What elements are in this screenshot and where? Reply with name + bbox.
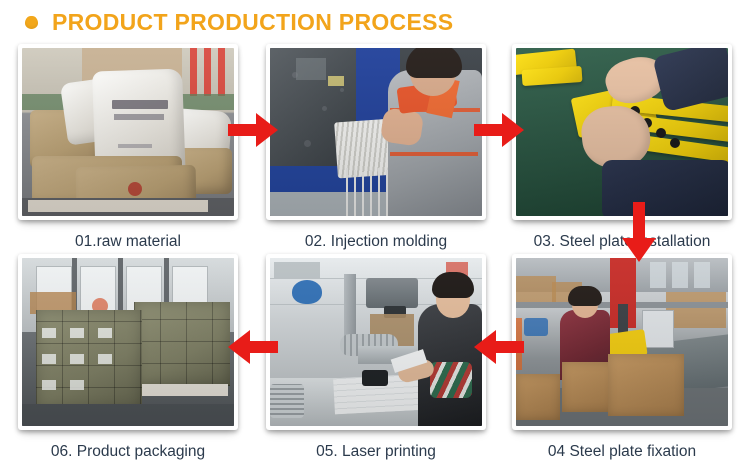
photo-frame-05 — [266, 254, 486, 430]
diamond-bullet-icon — [25, 16, 38, 29]
step-caption-06: 06. Product packaging — [18, 443, 238, 461]
arrow-step2-to-step3 — [474, 113, 524, 147]
photo-frame-02 — [266, 44, 486, 220]
step-caption-05: 05. Laser printing — [266, 443, 486, 461]
page-title: PRODUCT PRODUCTION PROCESS — [52, 9, 453, 36]
photo-steel-plate-fixation — [516, 258, 728, 426]
photo-injection-molding — [270, 48, 482, 216]
step-caption-02: 02. Injection molding — [266, 233, 486, 251]
process-step-05[interactable]: 05. Laser printing — [266, 254, 486, 461]
photo-laser-printing — [270, 258, 482, 426]
photo-product-packaging — [22, 258, 234, 426]
arrow-step1-to-step2 — [228, 113, 278, 147]
process-step-06[interactable]: 06. Product packaging — [18, 254, 238, 461]
arrow-step4-to-step5 — [474, 330, 524, 364]
process-step-01[interactable]: 01.raw material — [18, 44, 238, 251]
photo-steel-plate-installation — [516, 48, 728, 216]
process-step-02[interactable]: 02. Injection molding — [266, 44, 486, 251]
photo-frame-03 — [512, 44, 732, 220]
page-header: PRODUCT PRODUCTION PROCESS — [0, 0, 750, 44]
photo-frame-04 — [512, 254, 732, 430]
photo-frame-01 — [18, 44, 238, 220]
arrow-step3-to-step4 — [622, 202, 656, 262]
process-step-04[interactable]: 04 Steel plate fixation — [512, 254, 732, 461]
arrow-step5-to-step6 — [228, 330, 278, 364]
step-caption-01: 01.raw material — [18, 233, 238, 251]
photo-raw-material — [22, 48, 234, 216]
step-caption-04: 04 Steel plate fixation — [512, 443, 732, 461]
photo-frame-06 — [18, 254, 238, 430]
